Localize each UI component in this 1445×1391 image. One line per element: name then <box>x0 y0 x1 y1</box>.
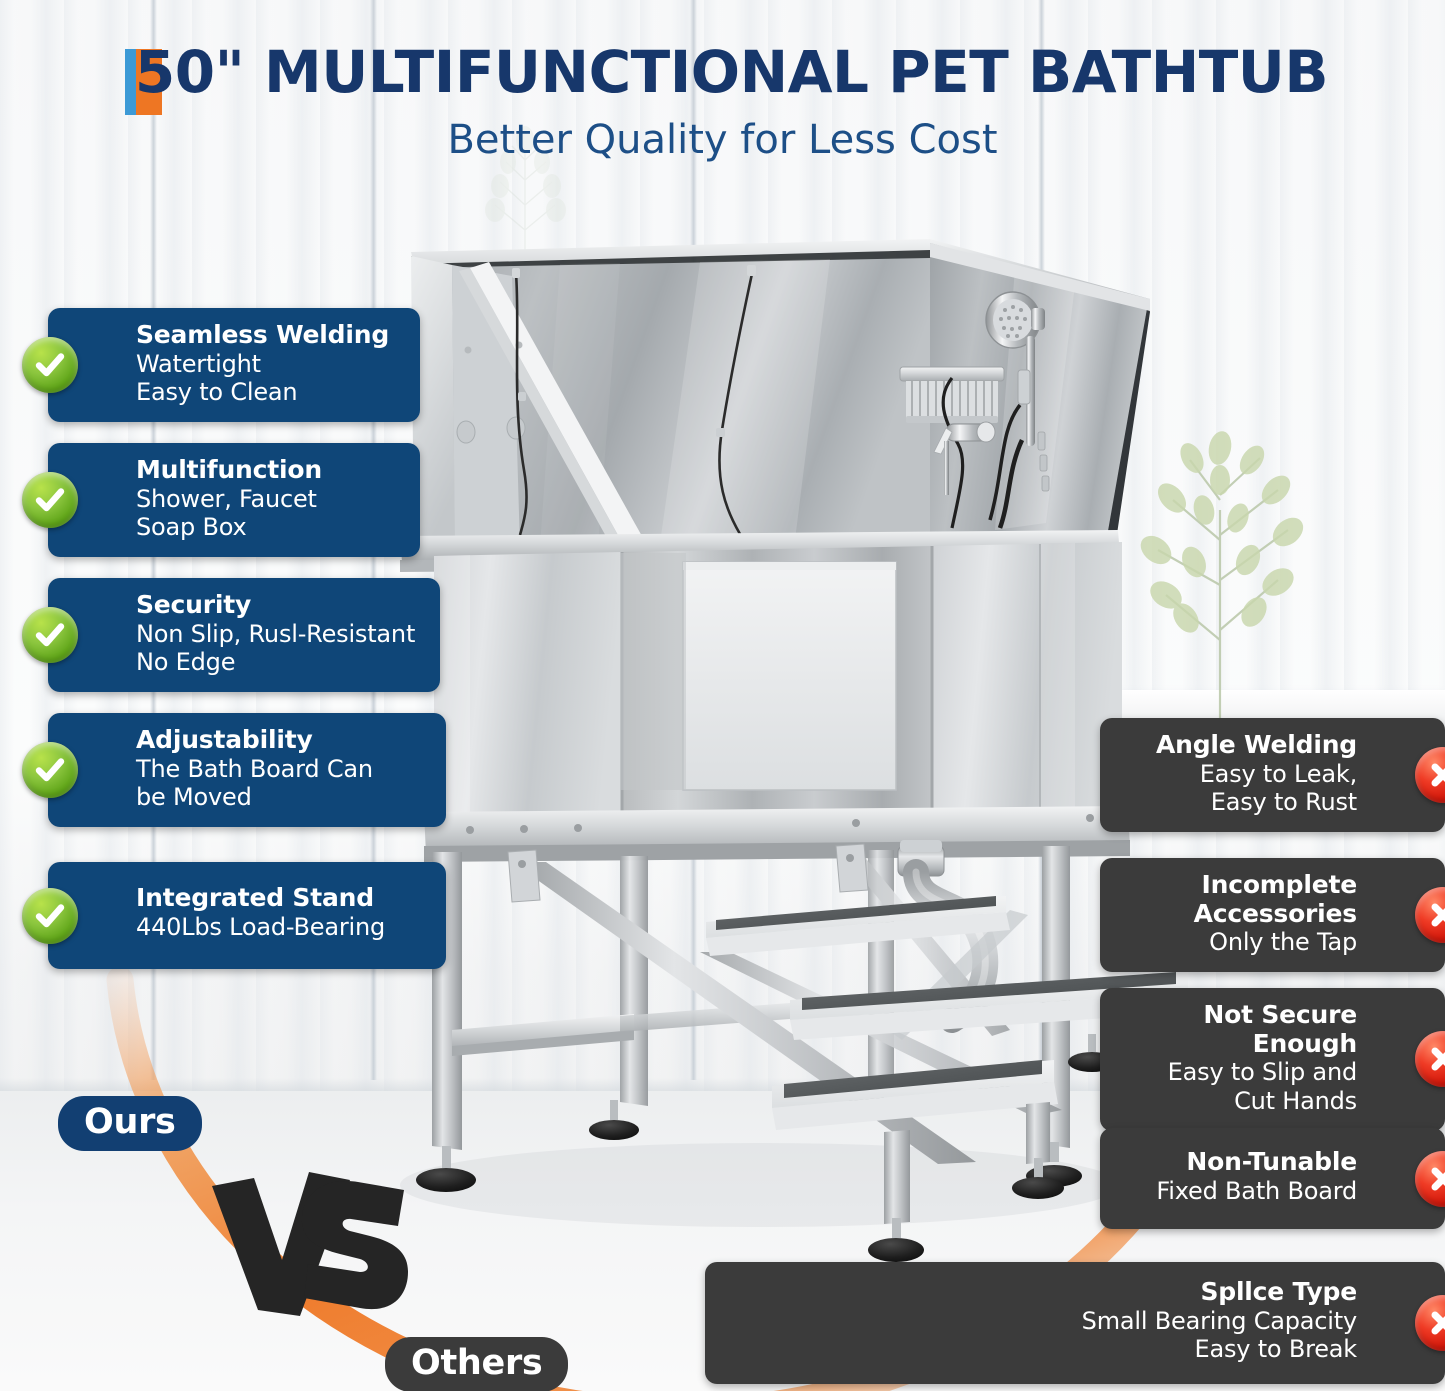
con-feature-card-3[interactable]: Not Secure Enough Easy to Slip and Cut H… <box>1100 988 1445 1131</box>
con-line-1: Small Bearing Capacity <box>723 1307 1357 1336</box>
pro-title: Security <box>136 591 420 620</box>
con-title: Not Secure Enough <box>1118 1001 1357 1058</box>
page-subtitle: Better Quality for Less Cost <box>0 117 1445 163</box>
con-line-1: Fixed Bath Board <box>1118 1177 1357 1206</box>
pro-line-2: Easy to Clean <box>136 378 400 407</box>
pro-line-2: No Edge <box>136 648 420 677</box>
pro-feature-card-4[interactable]: Adjustability The Bath Board Can be Move… <box>48 713 446 827</box>
con-line-1: Easy to Leak, <box>1118 760 1357 789</box>
page-title-row: 50" MULTIFUNCTIONAL PET BATHTUB <box>117 42 1328 103</box>
header: 50" MULTIFUNCTIONAL PET BATHTUB Better Q… <box>0 42 1445 163</box>
check-circle-icon <box>22 607 78 663</box>
con-feature-card-1[interactable]: Angle Welding Easy to Leak, Easy to Rust <box>1100 718 1445 832</box>
con-title: Non-Tunable <box>1118 1148 1357 1177</box>
con-title: Spllce Type <box>723 1278 1357 1307</box>
pro-line-2: be Moved <box>136 783 426 812</box>
pro-feature-card-3[interactable]: Security Non Slip, Rusl-Resistant No Edg… <box>48 578 440 692</box>
pro-title: Adjustability <box>136 726 426 755</box>
con-line-1: Only the Tap <box>1118 928 1357 957</box>
con-line-1: Easy to Slip and <box>1118 1058 1357 1087</box>
page-title: 50" MULTIFUNCTIONAL PET BATHTUB <box>117 42 1328 103</box>
pro-title: Seamless Welding <box>136 321 400 350</box>
pro-line-1: Shower, Faucet <box>136 485 400 514</box>
pro-feature-card-2[interactable]: Multifunction Shower, Faucet Soap Box <box>48 443 420 557</box>
cross-circle-icon <box>1415 887 1445 943</box>
cross-circle-icon <box>1415 747 1445 803</box>
vs-logo: VS <box>208 1168 408 1318</box>
others-badge: Others <box>385 1337 568 1391</box>
ours-badge: Ours <box>58 1096 202 1151</box>
con-title: Angle Welding <box>1118 731 1357 760</box>
pro-feature-card-5[interactable]: Integrated Stand 440Lbs Load-Bearing <box>48 862 446 969</box>
infographic-canvas: 50" MULTIFUNCTIONAL PET BATHTUB Better Q… <box>0 0 1445 1391</box>
cross-circle-icon <box>1415 1295 1445 1351</box>
con-feature-card-4[interactable]: Non-Tunable Fixed Bath Board <box>1100 1128 1445 1229</box>
bath-board <box>620 553 896 790</box>
check-circle-icon <box>22 337 78 393</box>
con-line-2: Easy to Break <box>723 1335 1357 1364</box>
con-line-2: Easy to Rust <box>1118 788 1357 817</box>
pro-feature-card-1[interactable]: Seamless Welding Watertight Easy to Clea… <box>48 308 420 422</box>
check-circle-icon <box>22 742 78 798</box>
con-line-2: Cut Hands <box>1118 1087 1357 1116</box>
pro-line-1: The Bath Board Can <box>136 755 426 784</box>
pro-line-1: Non Slip, Rusl-Resistant <box>136 620 420 649</box>
pro-line-2: Soap Box <box>136 513 400 542</box>
check-circle-icon <box>22 888 78 944</box>
con-title: Incomplete Accessories <box>1118 871 1357 928</box>
pro-title: Multifunction <box>136 456 400 485</box>
pro-line-1: 440Lbs Load-Bearing <box>136 913 426 942</box>
soap-box-rack <box>900 367 1004 423</box>
cross-circle-icon <box>1415 1031 1445 1087</box>
cross-circle-icon <box>1415 1151 1445 1207</box>
con-feature-card-5[interactable]: Spllce Type Small Bearing Capacity Easy … <box>705 1262 1445 1384</box>
check-circle-icon <box>22 472 78 528</box>
pro-title: Integrated Stand <box>136 884 426 913</box>
pro-line-1: Watertight <box>136 350 400 379</box>
con-feature-card-2[interactable]: Incomplete Accessories Only the Tap <box>1100 858 1445 972</box>
